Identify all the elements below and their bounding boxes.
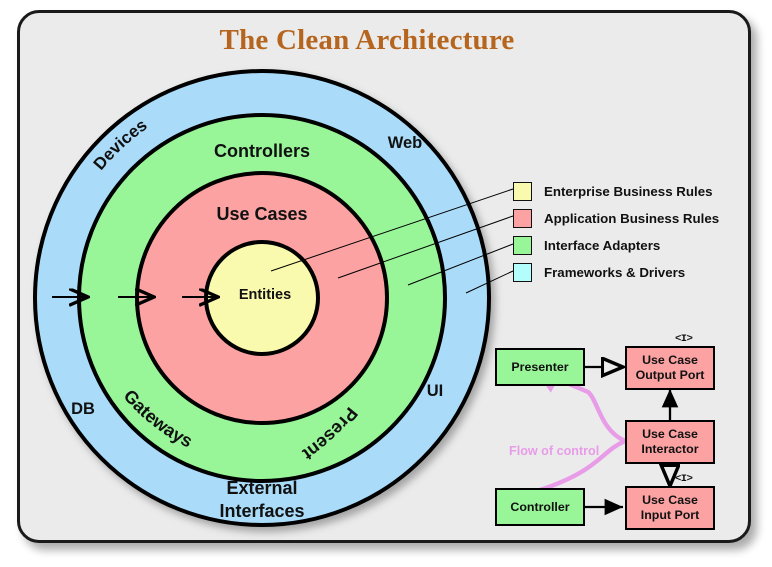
interface-marker-input-port: <I> — [675, 473, 692, 485]
flow-box-use-case-output-port[interactable]: Use Case Output Port — [625, 346, 715, 390]
flow-box-use-case-input-port[interactable]: Use Case Input Port — [625, 486, 715, 530]
interface-marker-output-port: <I> — [675, 333, 692, 345]
flow-box-presenter-label: Presenter — [511, 360, 568, 375]
flow-box-use-case-interactor[interactable]: Use Case Interactor — [625, 420, 715, 464]
flow-diagram-connectors — [0, 0, 772, 567]
diagram-canvas: The Clean Architecture — [0, 0, 772, 567]
flow-box-output-port-label-1: Use Case — [642, 353, 698, 367]
flow-box-input-port-label-1: Use Case — [642, 493, 698, 507]
flow-box-interactor-label-1: Use Case — [642, 427, 698, 441]
flow-box-presenter[interactable]: Presenter — [495, 348, 585, 386]
flow-of-control-arrow — [540, 374, 625, 490]
flow-box-interactor-label-2: Interactor — [641, 442, 698, 456]
flow-of-control-label: Flow of control — [509, 444, 599, 458]
flow-box-input-port-label-2: Input Port — [641, 508, 700, 522]
flow-box-controller-label: Controller — [510, 500, 569, 515]
flow-box-controller[interactable]: Controller — [495, 488, 585, 526]
flow-box-output-port-label-2: Output Port — [636, 368, 705, 382]
